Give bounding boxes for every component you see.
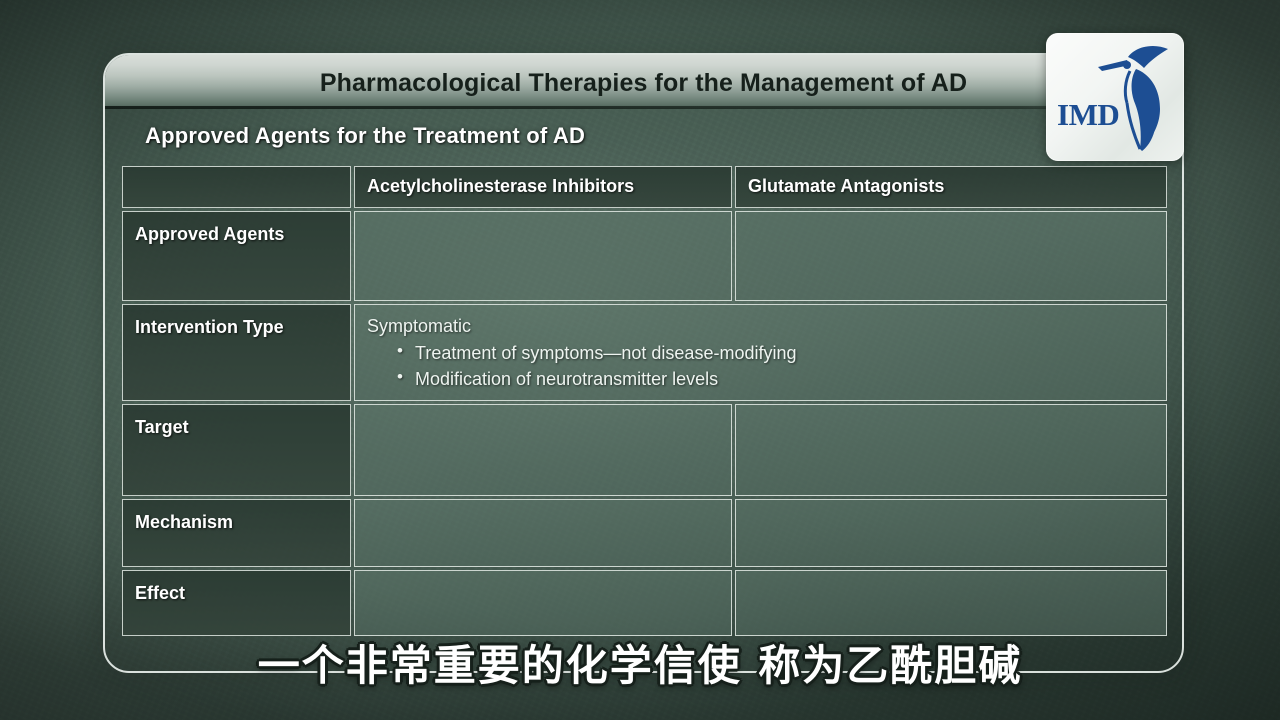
table-row: Approved Agents [122, 211, 1167, 301]
cell-approved-agents-ache [354, 211, 732, 301]
cell-effect-glutamate [735, 570, 1167, 636]
table-row: Target [122, 404, 1167, 496]
cell-target-glutamate [735, 404, 1167, 496]
row-label-approved-agents: Approved Agents [122, 211, 351, 301]
cell-mechanism-ache [354, 499, 732, 567]
list-item: Treatment of symptoms—not disease-modify… [397, 340, 1154, 366]
presentation-slide: Pharmacological Therapies for the Manage… [103, 53, 1184, 673]
intervention-type-content: Symptomatic Treatment of symptoms—not di… [355, 305, 1166, 400]
intervention-type-lead: Symptomatic [367, 314, 1154, 338]
row-label-effect: Effect [122, 570, 351, 636]
column-header-ache-inhibitors: Acetylcholinesterase Inhibitors [354, 166, 732, 208]
table-row: Mechanism [122, 499, 1167, 567]
table-corner-cell [122, 166, 351, 208]
cell-mechanism-glutamate [735, 499, 1167, 567]
logo-inner: IMD [1046, 33, 1184, 161]
cell-target-ache [354, 404, 732, 496]
imd-logo-card: IMD [1046, 33, 1184, 161]
section-heading: Approved Agents for the Treatment of AD [145, 123, 585, 149]
column-header-glutamate-antagonists: Glutamate Antagonists [735, 166, 1167, 208]
list-item: Modification of neurotransmitter levels [397, 366, 1154, 392]
video-subtitle: 一个非常重要的化学信使 称为乙酰胆碱 [0, 632, 1280, 693]
logo-wordmark: IMD [1057, 97, 1119, 133]
cell-intervention-type-merged: Symptomatic Treatment of symptoms—not di… [354, 304, 1167, 401]
row-label-intervention-type: Intervention Type [122, 304, 351, 401]
cell-effect-ache [354, 570, 732, 636]
table-row: Effect [122, 570, 1167, 636]
table-header-row: Acetylcholinesterase Inhibitors Glutamat… [122, 166, 1167, 208]
therapies-comparison-table: Acetylcholinesterase Inhibitors Glutamat… [119, 163, 1170, 639]
row-label-mechanism: Mechanism [122, 499, 351, 567]
slide-title-bar: Pharmacological Therapies for the Manage… [105, 55, 1182, 109]
row-label-target: Target [122, 404, 351, 496]
table-row: Intervention Type Symptomatic Treatment … [122, 304, 1167, 401]
intervention-type-bullet-list: Treatment of symptoms—not disease-modify… [397, 340, 1154, 392]
slide-title: Pharmacological Therapies for the Manage… [105, 69, 1182, 98]
cell-approved-agents-glutamate [735, 211, 1167, 301]
